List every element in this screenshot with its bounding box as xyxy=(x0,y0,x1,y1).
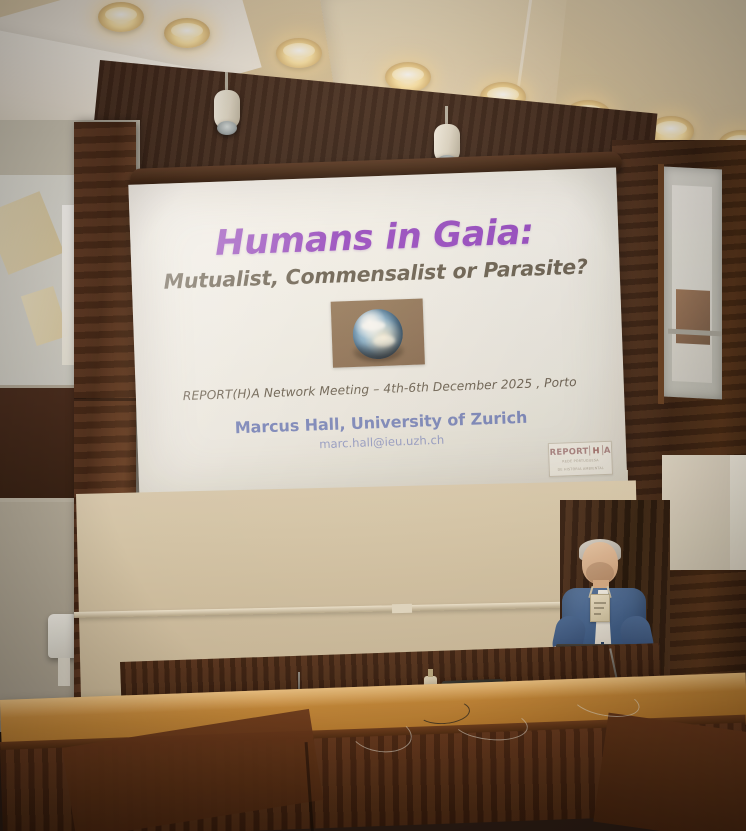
ceiling-downlight-icon xyxy=(276,38,322,68)
badge-text-line xyxy=(594,602,606,604)
projection-screen: Humans in Gaia: Mutualist, Commensalist … xyxy=(128,167,631,510)
ceiling-downlight-icon xyxy=(98,2,144,32)
reportha-logo: REPORTHA REDE PORTUGUESA DE HISTORIA AMB… xyxy=(548,441,613,477)
slide: Humans in Gaia: Mutualist, Commensalist … xyxy=(128,167,627,502)
hanging-spotlight-icon xyxy=(214,72,240,142)
logo-text-h: H xyxy=(589,445,603,455)
ceiling-downlight-icon xyxy=(164,18,210,48)
spotlight-lens xyxy=(217,121,237,135)
screen-surface: Humans in Gaia: Mutualist, Commensalist … xyxy=(128,167,627,502)
desk-right-facet xyxy=(593,713,746,831)
logo-wordmark: REPORTHA xyxy=(549,445,610,457)
left-window-slit xyxy=(62,205,74,365)
wall-rail-clip xyxy=(392,604,412,613)
earth-image xyxy=(331,299,425,368)
presentation-photo: Humans in Gaia: Mutualist, Commensalist … xyxy=(0,0,746,831)
pillar-joint xyxy=(74,398,136,401)
left-wainscot xyxy=(0,388,80,498)
badge-text-line xyxy=(594,613,601,615)
logo-text-report: REPORT xyxy=(549,446,588,457)
cloud xyxy=(361,321,385,331)
logo-text-a: A xyxy=(604,445,611,455)
logo-subtext-line2: DE HISTORIA AMBIENTAL xyxy=(557,466,604,473)
badge-text-line xyxy=(594,607,604,609)
logo-subtext-line1: REDE PORTUGUESA xyxy=(562,458,599,464)
door-glass-inner xyxy=(672,185,712,383)
earth-globe-icon xyxy=(352,309,404,361)
slide-meeting-line: REPORT(H)A Network Meeting – 4th-6th Dec… xyxy=(156,374,604,404)
right-lower-strip xyxy=(730,455,746,570)
conference-badge xyxy=(590,594,610,622)
door-glass-reflection xyxy=(676,289,710,345)
wall-dispenser-tab xyxy=(58,658,70,686)
terminator-shadow xyxy=(353,340,404,362)
right-lower-panel xyxy=(662,455,732,570)
